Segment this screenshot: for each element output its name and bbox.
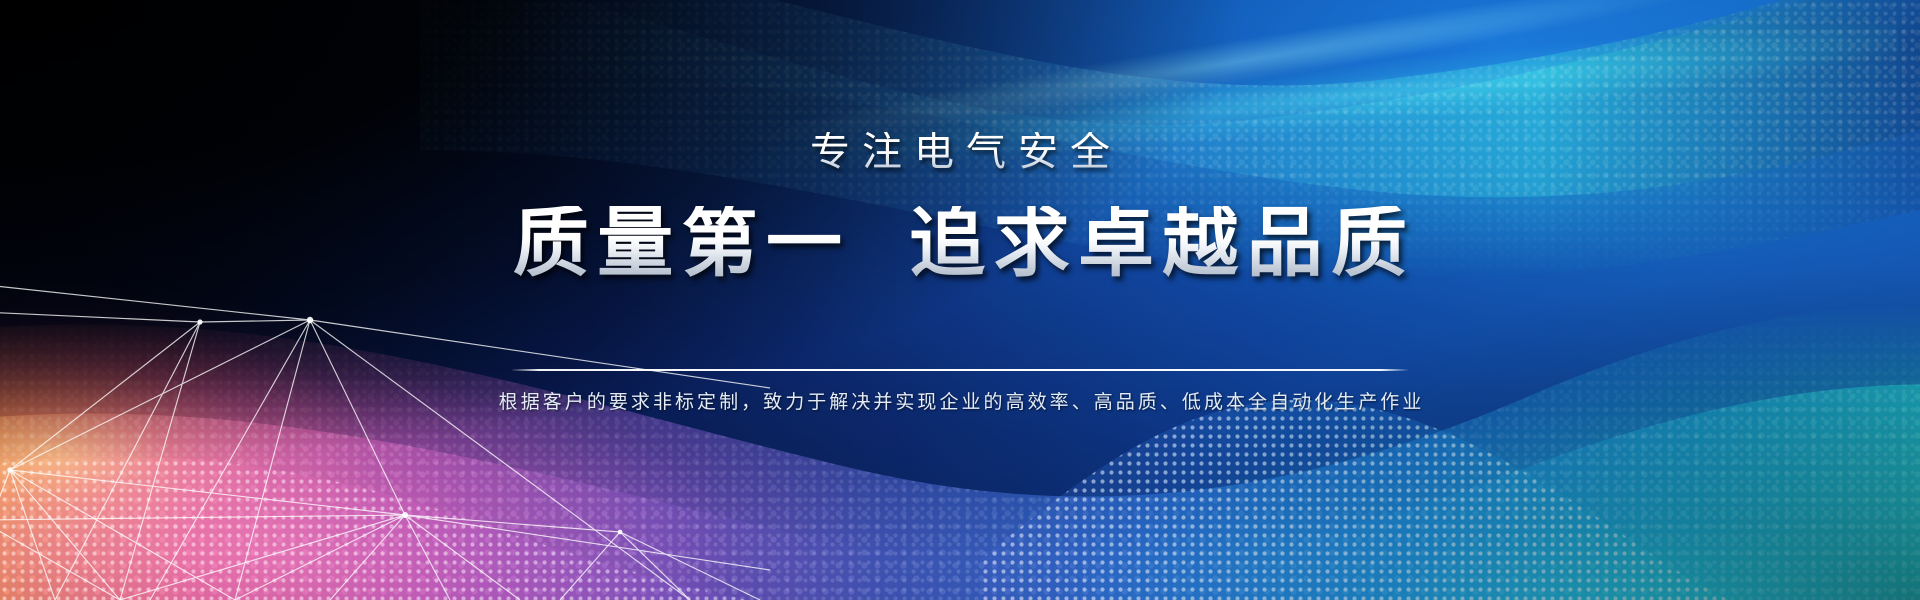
hero-banner: 专注电气安全 质量第一 追求卓越品质 根据客户的要求非标定制，致力于解决并实现企…: [0, 0, 1920, 600]
banner-tagline: 专注电气安全: [798, 132, 1122, 172]
banner-headline: 质量第一 追求卓越品质: [505, 206, 1416, 282]
banner-content: 专注电气安全 质量第一 追求卓越品质 根据客户的要求非标定制，致力于解决并实现企…: [0, 0, 1920, 600]
divider-line: [512, 369, 1408, 371]
banner-subtitle: 根据客户的要求非标定制，致力于解决并实现企业的高效率、高品质、低成本全自动化生产…: [496, 393, 1425, 412]
